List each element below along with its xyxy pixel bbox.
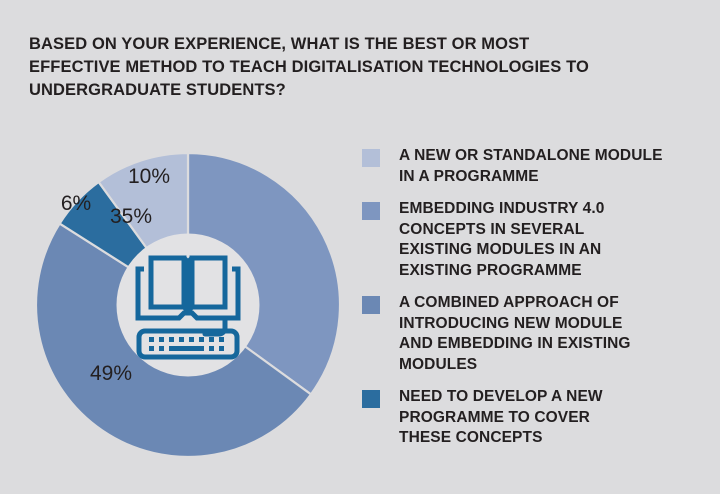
legend-label-line: EMBEDDING INDUSTRY 4.0 — [399, 199, 604, 220]
legend-label-line: MODULES — [399, 355, 631, 376]
donut-chart: 35%49%6%10% — [36, 153, 340, 457]
legend-label-line: EXISTING MODULES IN AN — [399, 240, 604, 261]
page-title: BASED ON YOUR EXPERIENCE, WHAT IS THE BE… — [29, 33, 669, 102]
slice-value-label: 10% — [128, 165, 170, 188]
legend-item-3[interactable]: A COMBINED APPROACH OFINTRODUCING NEW MO… — [362, 293, 702, 375]
legend-item-label: NEED TO DEVELOP A NEWPROGRAMME TO COVERT… — [399, 387, 603, 449]
legend-item-label: A NEW OR STANDALONE MODULEIN A PROGRAMME — [399, 146, 663, 187]
legend-label-line: NEED TO DEVELOP A NEW — [399, 387, 603, 408]
legend-label-line: IN A PROGRAMME — [399, 167, 663, 188]
legend-swatch-icon — [362, 296, 380, 314]
legend: A NEW OR STANDALONE MODULEIN A PROGRAMME… — [362, 146, 702, 461]
legend-item-1[interactable]: A NEW OR STANDALONE MODULEIN A PROGRAMME — [362, 146, 702, 187]
legend-label-line: INTRODUCING NEW MODULE — [399, 314, 631, 335]
slice-value-label: 6% — [61, 192, 91, 215]
legend-item-2[interactable]: EMBEDDING INDUSTRY 4.0CONCEPTS IN SEVERA… — [362, 199, 702, 281]
legend-swatch-icon — [362, 149, 380, 167]
title-line: BASED ON YOUR EXPERIENCE, WHAT IS THE BE… — [29, 33, 669, 56]
legend-item-label: EMBEDDING INDUSTRY 4.0CONCEPTS IN SEVERA… — [399, 199, 604, 281]
legend-label-line: PROGRAMME TO COVER — [399, 408, 603, 429]
book-and-keyboard-icon — [129, 249, 247, 361]
legend-label-line: AND EMBEDDING IN EXISTING — [399, 334, 631, 355]
legend-label-line: EXISTING PROGRAMME — [399, 261, 604, 282]
title-line: EFFECTIVE METHOD TO TEACH DIGITALISATION… — [29, 56, 669, 79]
legend-label-line: A NEW OR STANDALONE MODULE — [399, 146, 663, 167]
legend-item-label: A COMBINED APPROACH OFINTRODUCING NEW MO… — [399, 293, 631, 375]
legend-label-line: CONCEPTS IN SEVERAL — [399, 220, 604, 241]
slice-value-label: 35% — [110, 205, 152, 228]
title-line: UNDERGRADUATE STUDENTS? — [29, 79, 669, 102]
legend-item-4[interactable]: NEED TO DEVELOP A NEWPROGRAMME TO COVERT… — [362, 387, 702, 449]
legend-label-line: THESE CONCEPTS — [399, 428, 603, 449]
legend-swatch-icon — [362, 202, 380, 220]
legend-swatch-icon — [362, 390, 380, 408]
slice-value-label: 49% — [90, 362, 132, 385]
legend-label-line: A COMBINED APPROACH OF — [399, 293, 631, 314]
